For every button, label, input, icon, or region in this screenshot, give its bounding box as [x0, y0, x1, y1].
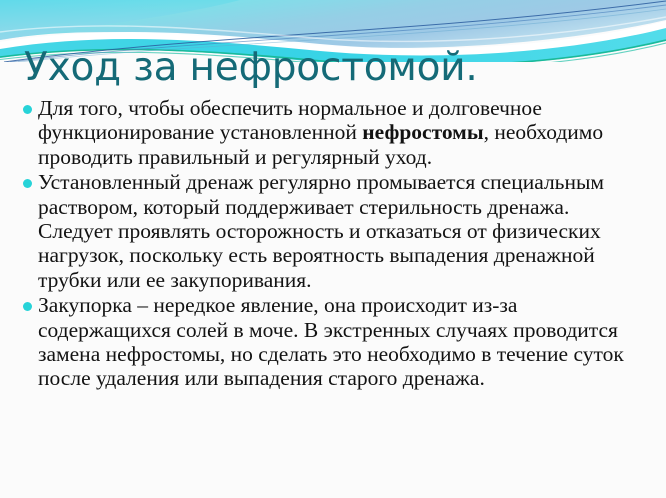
list-item-text: Установленный дренаж регулярно промывает…	[38, 170, 662, 292]
bullet-list: Для того, чтобы обеспечить нормальное и …	[16, 96, 662, 392]
presentation-slide: Уход за нефростомой. Для того, чтобы обе…	[0, 0, 666, 498]
list-item-text: Для того, чтобы обеспечить нормальное и …	[38, 96, 662, 169]
list-item: Закупорка – нередкое явление, она происх…	[16, 293, 662, 391]
text-run: Закупорка – нередкое явление, она происх…	[38, 293, 624, 390]
list-item: Для того, чтобы обеспечить нормальное и …	[16, 96, 662, 169]
list-item-text: Закупорка – нередкое явление, она происх…	[38, 293, 662, 391]
text-run: Установленный дренаж регулярно промывает…	[38, 170, 604, 292]
bullet-dot-icon	[16, 293, 38, 311]
list-item: Установленный дренаж регулярно промывает…	[16, 170, 662, 292]
text-run-bold: нефростомы	[362, 120, 483, 144]
bullet-dot-icon	[16, 96, 38, 114]
title-block: Уход за нефростомой.	[24, 46, 644, 90]
bullet-dot-icon	[16, 170, 38, 188]
page-title: Уход за нефростомой.	[24, 46, 644, 90]
